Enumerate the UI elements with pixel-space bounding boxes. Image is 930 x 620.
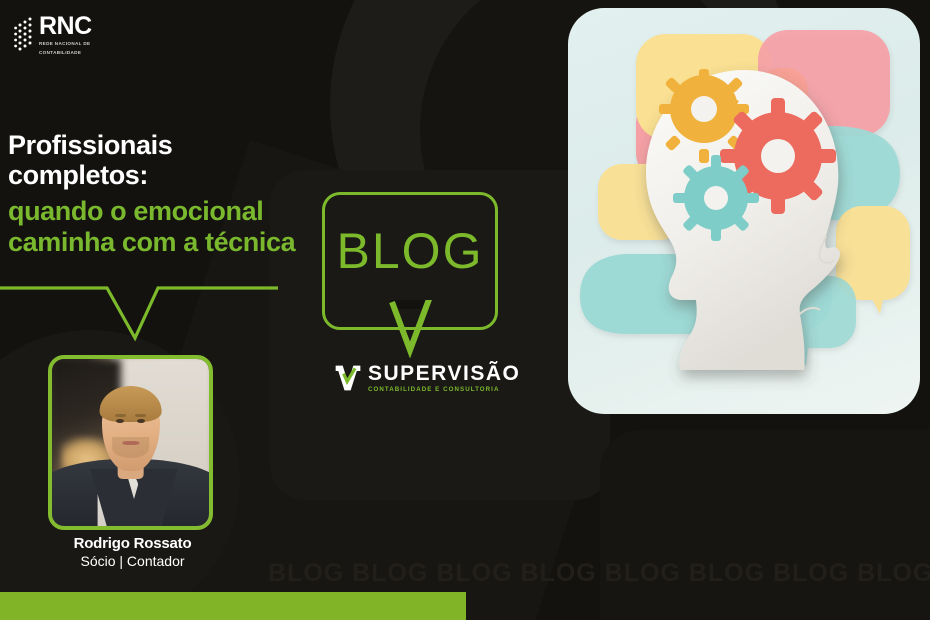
- supervisao-logo: SUPERVISÃO CONTABILIDADE E CONSULTORIA: [333, 356, 493, 400]
- check-mark-icon: [372, 300, 448, 358]
- dot-matrix-icon: [14, 14, 34, 56]
- rnc-logo-subtitle-line2: CONTABILIDADE: [39, 50, 92, 57]
- speaker-name: Rodrigo Rossato: [0, 535, 265, 552]
- illustration-panel: [568, 8, 920, 414]
- supervisao-logo-tagline: CONTABILIDADE E CONSULTORIA: [368, 387, 520, 393]
- teal-gear-icon: [673, 155, 759, 241]
- rnc-logo: RNC REDE NACIONAL DE CONTABILIDADE: [14, 14, 92, 56]
- headline-line-2: completos:: [8, 160, 318, 190]
- blog-logo: BLOG: [322, 192, 498, 330]
- rnc-logo-title: RNC: [39, 14, 92, 39]
- speaker-role: Sócio | Contador: [0, 553, 265, 570]
- poster-canvas: BLOG BLOG BLOG BLOG BLOG BLOG BLOG BLOG …: [0, 0, 930, 620]
- headline-line-4: caminha com a técnica: [8, 227, 318, 257]
- blog-watermark-strip: BLOG BLOG BLOG BLOG BLOG BLOG BLOG BLOG …: [268, 556, 930, 590]
- headline-block: Profissionais completos: quando o emocio…: [8, 130, 318, 257]
- background-rounded-shape-right: [600, 430, 930, 620]
- supervisao-logo-name: SUPERVISÃO: [368, 363, 520, 384]
- rnc-logo-subtitle-line1: REDE NACIONAL DE: [39, 41, 92, 48]
- check-divider-icon: [0, 282, 280, 344]
- bottom-accent-bar: [0, 592, 466, 620]
- speaker-photo-frame: [48, 355, 213, 530]
- headline-line-3: quando o emocional: [8, 196, 318, 226]
- head-gears-illustration: [568, 8, 920, 414]
- speaker-photo: [52, 359, 209, 526]
- v-check-mark-icon: [333, 363, 363, 393]
- headline-line-1: Profissionais: [8, 130, 318, 160]
- speaker-info: Rodrigo Rossato Sócio | Contador: [0, 535, 265, 570]
- blog-logo-word: BLOG: [322, 226, 498, 276]
